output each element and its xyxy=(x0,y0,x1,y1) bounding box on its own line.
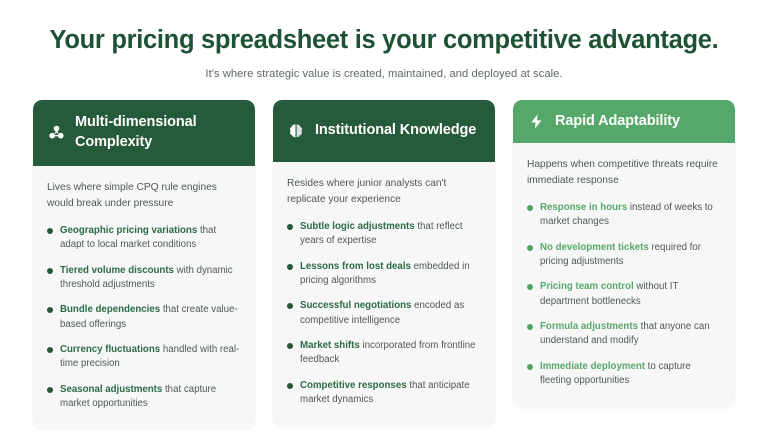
list-item: Geographic pricing variations that adapt… xyxy=(47,224,240,253)
card-header: Multi-dimensional Complexity xyxy=(33,100,255,166)
list-item-text: Tiered volume discounts with dynamic thr… xyxy=(60,264,240,293)
card-title: Institutional Knowledge xyxy=(315,121,476,140)
bullet-list: Geographic pricing variations that adapt… xyxy=(47,224,240,412)
bullet-dot-icon xyxy=(287,303,293,309)
list-item-emphasis: Immediate deployment xyxy=(540,361,645,372)
list-item-emphasis: Market shifts xyxy=(300,340,360,351)
card-lede: Lives where simple CPQ rule engines woul… xyxy=(47,180,240,212)
list-item: Lessons from lost deals embedded in pric… xyxy=(287,260,480,289)
list-item-emphasis: Tiered volume discounts xyxy=(60,265,174,276)
bullet-dot-icon xyxy=(527,245,533,251)
card-grid: Multi-dimensional ComplexityLives where … xyxy=(0,80,768,429)
bullet-dot-icon xyxy=(527,364,533,370)
card-title: Rapid Adaptability xyxy=(555,112,680,131)
feature-card: Institutional KnowledgeResides where jun… xyxy=(273,100,495,425)
bullet-dot-icon xyxy=(47,387,53,393)
feature-card: Multi-dimensional ComplexityLives where … xyxy=(33,100,255,429)
list-item-emphasis: No development tickets xyxy=(540,242,649,253)
list-item-text: Formula adjustments that anyone can unde… xyxy=(540,320,720,349)
list-item-emphasis: Pricing team control xyxy=(540,281,634,292)
page-subtitle: It's where strategic value is created, m… xyxy=(24,68,744,80)
page-title: Your pricing spreadsheet is your competi… xyxy=(24,26,744,55)
bullet-dot-icon xyxy=(527,205,533,211)
list-item-emphasis: Geographic pricing variations xyxy=(60,225,197,236)
list-item-emphasis: Bundle dependencies xyxy=(60,304,160,315)
list-item: Competitive responses that anticipate ma… xyxy=(287,379,480,408)
list-item: Tiered volume discounts with dynamic thr… xyxy=(47,264,240,293)
feature-card: Rapid AdaptabilityHappens when competiti… xyxy=(513,100,735,406)
bullet-dot-icon xyxy=(47,347,53,353)
bullet-dot-icon xyxy=(287,224,293,230)
list-item: Seasonal adjustments that capture market… xyxy=(47,383,240,412)
card-header: Institutional Knowledge xyxy=(273,100,495,162)
list-item-text: Geographic pricing variations that adapt… xyxy=(60,224,240,253)
list-item-emphasis: Formula adjustments xyxy=(540,321,638,332)
bullet-list: Subtle logic adjustments that reflect ye… xyxy=(287,220,480,408)
list-item-text: Successful negotiations encoded as compe… xyxy=(300,299,480,328)
list-item: Currency fluctuations handled with real-… xyxy=(47,343,240,372)
bullet-dot-icon xyxy=(527,324,533,330)
molecule-cluster-icon xyxy=(46,123,66,143)
brain-icon xyxy=(286,121,306,141)
bullet-dot-icon xyxy=(287,383,293,389)
list-item-text: Response in hours instead of weeks to ma… xyxy=(540,201,720,230)
list-item: Pricing team control without IT departme… xyxy=(527,280,720,309)
list-item: Formula adjustments that anyone can unde… xyxy=(527,320,720,349)
list-item-text: Immediate deployment to capture fleeting… xyxy=(540,360,720,389)
list-item-emphasis: Response in hours xyxy=(540,202,627,213)
list-item: Bundle dependencies that create value-ba… xyxy=(47,303,240,332)
bullet-dot-icon xyxy=(47,268,53,274)
list-item-text: Seasonal adjustments that capture market… xyxy=(60,383,240,412)
list-item-emphasis: Subtle logic adjustments xyxy=(300,221,415,232)
list-item-text: Pricing team control without IT departme… xyxy=(540,280,720,309)
list-item-text: Subtle logic adjustments that reflect ye… xyxy=(300,220,480,249)
list-item-text: Competitive responses that anticipate ma… xyxy=(300,379,480,408)
card-lede: Resides where junior analysts can't repl… xyxy=(287,176,480,208)
list-item: Response in hours instead of weeks to ma… xyxy=(527,201,720,230)
card-body: Happens when competitive threats require… xyxy=(513,143,735,406)
card-lede: Happens when competitive threats require… xyxy=(527,157,720,189)
list-item-text: Bundle dependencies that create value-ba… xyxy=(60,303,240,332)
list-item: Immediate deployment to capture fleeting… xyxy=(527,360,720,389)
lightning-bolt-icon xyxy=(526,112,546,132)
card-body: Lives where simple CPQ rule engines woul… xyxy=(33,166,255,429)
bullet-dot-icon xyxy=(287,343,293,349)
list-item-emphasis: Currency fluctuations xyxy=(60,344,160,355)
list-item: Successful negotiations encoded as compe… xyxy=(287,299,480,328)
card-title: Multi-dimensional Complexity xyxy=(75,113,240,152)
list-item: Subtle logic adjustments that reflect ye… xyxy=(287,220,480,249)
bullet-dot-icon xyxy=(47,307,53,313)
bullet-dot-icon xyxy=(47,228,53,234)
list-item-emphasis: Competitive responses xyxy=(300,380,407,391)
list-item: No development tickets required for pric… xyxy=(527,241,720,270)
header-block: Your pricing spreadsheet is your competi… xyxy=(0,0,768,80)
card-header: Rapid Adaptability xyxy=(513,100,735,143)
slide-root: Your pricing spreadsheet is your competi… xyxy=(0,0,768,432)
bullet-dot-icon xyxy=(287,264,293,270)
list-item-text: Lessons from lost deals embedded in pric… xyxy=(300,260,480,289)
list-item-emphasis: Successful negotiations xyxy=(300,300,411,311)
card-body: Resides where junior analysts can't repl… xyxy=(273,162,495,425)
list-item: Market shifts incorporated from frontlin… xyxy=(287,339,480,368)
list-item-emphasis: Lessons from lost deals xyxy=(300,261,411,272)
list-item-text: Currency fluctuations handled with real-… xyxy=(60,343,240,372)
bullet-dot-icon xyxy=(527,284,533,290)
list-item-emphasis: Seasonal adjustments xyxy=(60,384,162,395)
list-item-text: No development tickets required for pric… xyxy=(540,241,720,270)
list-item-text: Market shifts incorporated from frontlin… xyxy=(300,339,480,368)
bullet-list: Response in hours instead of weeks to ma… xyxy=(527,201,720,389)
